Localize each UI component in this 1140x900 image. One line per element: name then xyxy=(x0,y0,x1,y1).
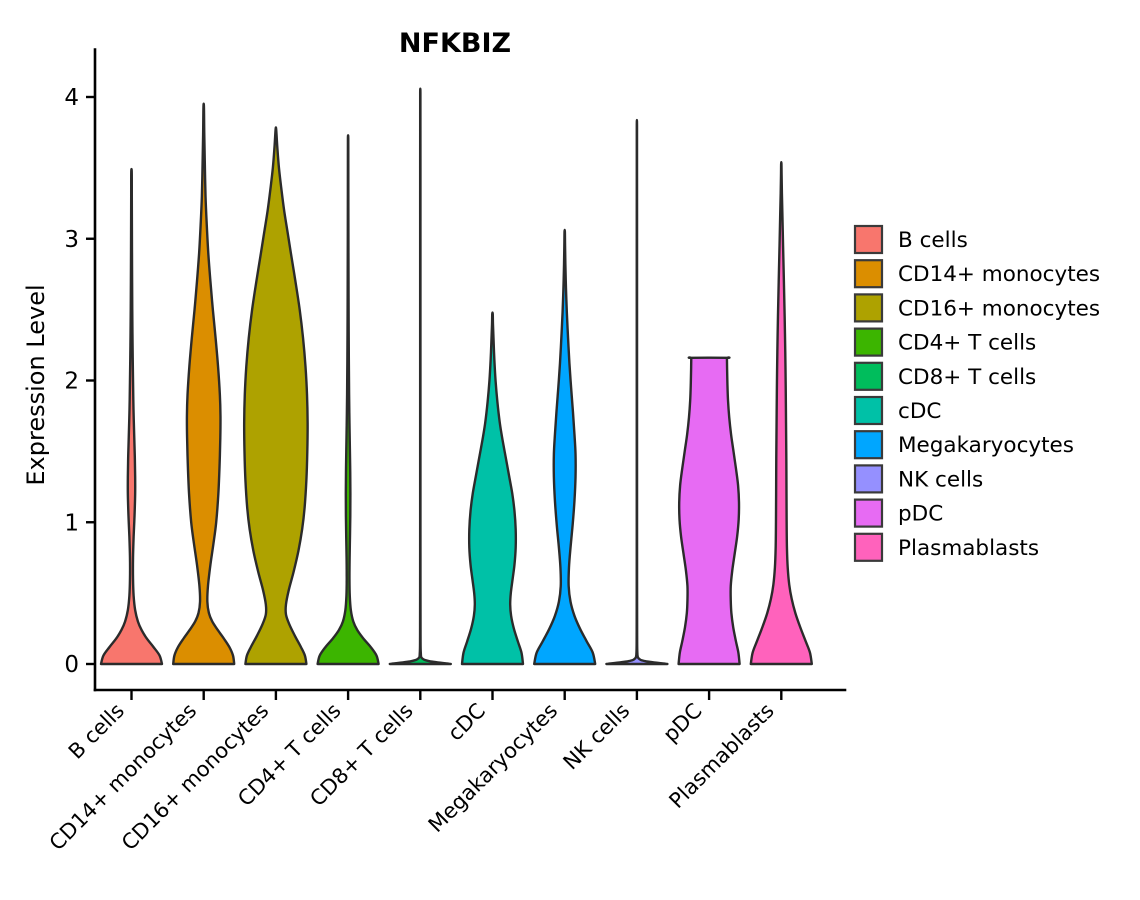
legend-swatch[interactable] xyxy=(855,226,882,253)
legend-label: NK cells xyxy=(898,467,983,492)
legend-item-cd4-t-cells[interactable]: CD4+ T cells xyxy=(855,329,1036,356)
legend-swatch[interactable] xyxy=(855,465,882,492)
legend-swatch[interactable] xyxy=(855,397,882,424)
legend-item-nk-cells[interactable]: NK cells xyxy=(855,465,983,492)
y-tick-label: 1 xyxy=(64,510,79,536)
legend-item-cdc[interactable]: cDC xyxy=(855,397,941,424)
legend-label: CD8+ T cells xyxy=(898,365,1036,390)
violin-plot-figure: NFKBIZ Expression Level 01234 B cellsCD1… xyxy=(0,0,1140,900)
legend-swatch[interactable] xyxy=(855,431,882,458)
legend-label: CD14+ monocytes xyxy=(898,262,1100,287)
legend-label: Plasmablasts xyxy=(898,536,1039,561)
legend-label: CD4+ T cells xyxy=(898,331,1036,356)
legend-swatch[interactable] xyxy=(855,534,882,561)
chart-title: NFKBIZ xyxy=(399,28,511,59)
legend-item-b-cells[interactable]: B cells xyxy=(855,226,968,253)
y-tick-label: 0 xyxy=(64,652,79,678)
legend-item-cd8-t-cells[interactable]: CD8+ T cells xyxy=(855,363,1036,390)
plot-svg: NFKBIZ Expression Level 01234 B cellsCD1… xyxy=(0,0,1140,900)
legend-swatch[interactable] xyxy=(855,329,882,356)
y-tick-label: 4 xyxy=(64,85,79,111)
legend-swatch[interactable] xyxy=(855,500,882,527)
legend-item-pdc[interactable]: pDC xyxy=(855,500,943,527)
legend-swatch[interactable] xyxy=(855,363,882,390)
legend-label: pDC xyxy=(898,502,943,527)
legend-swatch[interactable] xyxy=(855,260,882,287)
legend-label: CD16+ monocytes xyxy=(898,296,1100,321)
y-axis-title: Expression Level xyxy=(22,284,50,485)
y-tick-label: 2 xyxy=(64,369,79,395)
legend-item-plasmablasts[interactable]: Plasmablasts xyxy=(855,534,1039,561)
legend-swatch[interactable] xyxy=(855,294,882,321)
legend-label: Megakaryocytes xyxy=(898,433,1074,458)
legend-label: cDC xyxy=(898,399,941,424)
y-tick-label: 3 xyxy=(64,227,79,253)
legend-label: B cells xyxy=(898,228,968,253)
